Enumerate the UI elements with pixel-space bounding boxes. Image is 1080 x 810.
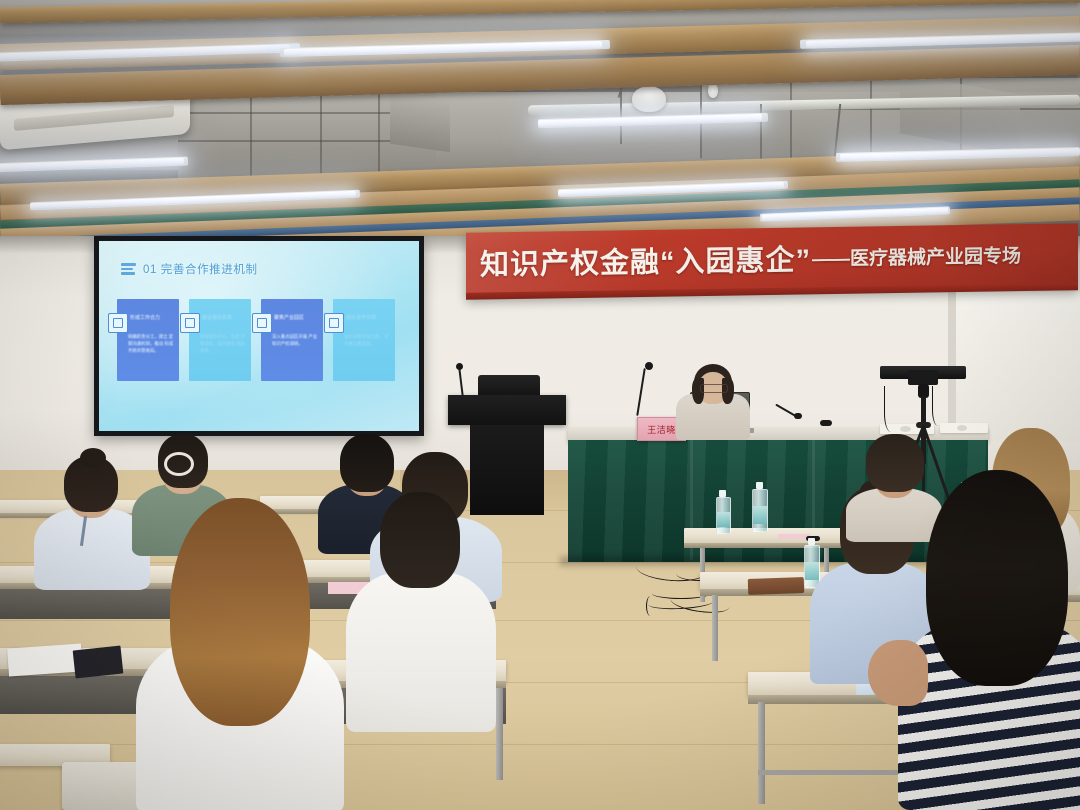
- card-body: 搭建服务平台，完善 对接流程，提升服务 响应效率。: [200, 333, 246, 354]
- desk-leg: [496, 688, 503, 780]
- microphone-head: [820, 420, 832, 426]
- card-icon: [324, 313, 344, 333]
- card-icon: [252, 313, 272, 333]
- hair-bun: [80, 448, 106, 468]
- slide-title-text: 01 完善合作推进机制: [143, 261, 258, 277]
- person-torso: [346, 572, 496, 732]
- eyeglasses-icon: [700, 384, 728, 393]
- card-heading: 形成工作合力: [130, 314, 175, 321]
- notebook: [7, 643, 83, 676]
- lectern-top: [448, 395, 566, 425]
- banner-sub-text: ——医疗器械产业园专场: [812, 241, 1021, 271]
- slide-card: 健全服务体系 搭建服务平台，完善 对接流程，提升服务 响应效率。: [189, 299, 251, 381]
- banner-main-text: 知识产权金融“入园惠企”: [480, 236, 811, 283]
- camera-cable: [884, 386, 901, 432]
- floor-cable: [646, 596, 655, 616]
- card-body: 明确职责分工，建立 定期沟通机制，推动 形成齐抓共管格局。: [128, 333, 174, 354]
- hamburger-icon: [121, 263, 136, 275]
- whiteboard: [955, 292, 1080, 442]
- lectern-riser: [478, 375, 540, 397]
- water-bottle: [716, 490, 729, 534]
- brown-folder: [748, 577, 805, 595]
- slide-title: 01 完善合作推进机制: [121, 261, 258, 277]
- card-icon: [108, 313, 128, 333]
- card-heading: 聚焦产业园区: [274, 314, 319, 321]
- card-icon: [180, 313, 200, 333]
- bottle-label: [753, 506, 767, 523]
- hair-clip: [164, 452, 194, 476]
- audience-person: [898, 470, 1080, 810]
- person-arm: [868, 640, 928, 706]
- clipboard: [73, 646, 124, 679]
- slide-card: 聚焦产业园区 深入重点园区开展 产业知识产权调研。: [261, 299, 323, 381]
- lectern-microphone-arm: [458, 367, 464, 397]
- slide-card: 形成工作合力 明确职责分工，建立 定期沟通机制，推动 形成齐抓共管格局。: [117, 299, 179, 381]
- bottle-label: [717, 512, 730, 527]
- slide-cards: 形成工作合力 明确职责分工，建立 定期沟通机制，推动 形成齐抓共管格局。 健全服…: [117, 299, 395, 381]
- name-plate-text: 王洁晓: [647, 423, 676, 436]
- desk-leg: [758, 702, 765, 804]
- desk-leg: [712, 595, 718, 661]
- presenter: [676, 360, 750, 436]
- card-heading: 健全服务体系: [202, 314, 247, 321]
- lectern-microphone-head: [456, 363, 463, 370]
- camera-cable: [932, 386, 947, 426]
- card-body: 深入重点园区开展 产业知识产权调研。: [272, 333, 318, 347]
- ceiling-speaker-icon: [632, 86, 666, 112]
- person-hair: [170, 498, 310, 726]
- bottle-cap: [756, 482, 763, 489]
- card-heading: 强化宣传引导: [346, 314, 391, 321]
- seminar-photo: 01 完善合作推进机制 形成工作合力 明确职责分工，建立 定期沟通机制，推动 形…: [0, 0, 1080, 810]
- bottle-body: [752, 489, 768, 532]
- slide-card: 强化宣传引导 加大政策宣讲力度， 扩大惠企覆盖面。: [333, 299, 395, 381]
- water-bottle: [752, 482, 766, 532]
- bottle-cap: [719, 490, 726, 497]
- projection-screen: 01 完善合作推进机制 形成工作合力 明确职责分工，建立 定期沟通机制，推动 形…: [94, 236, 424, 436]
- recording-camera: [908, 370, 938, 385]
- audience-person: [136, 498, 344, 810]
- ceiling: [0, 0, 1080, 242]
- card-body: 加大政策宣讲力度， 扩大惠企覆盖面。: [344, 333, 390, 347]
- bottle-body: [716, 497, 731, 534]
- person-hair: [380, 492, 460, 588]
- microphone-head: [645, 362, 653, 370]
- audience-person: [346, 500, 496, 730]
- person-hair: [926, 470, 1068, 686]
- microphone-head: [794, 413, 802, 419]
